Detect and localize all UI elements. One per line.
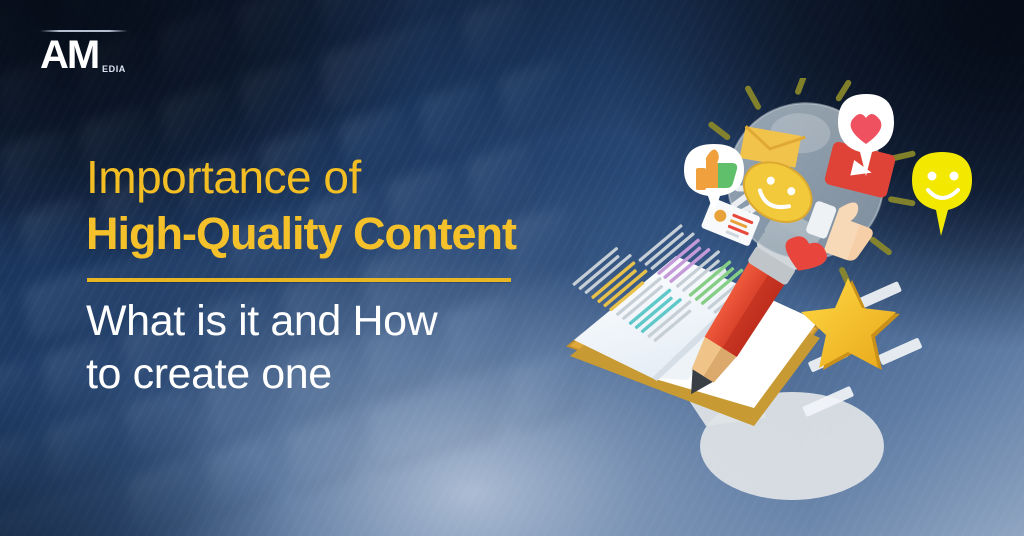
- logo[interactable]: AM EDIA: [40, 30, 136, 75]
- headline-divider: [87, 278, 511, 282]
- logo-secondary-text: EDIA: [102, 64, 126, 74]
- logo-primary-text: AM: [40, 33, 98, 77]
- headline-block: Importance of High-Quality Content What …: [86, 150, 556, 401]
- banner: AM EDIA Importance of High-Quality Conte…: [0, 0, 1024, 536]
- illustration-lightbulb-pencil-book: [556, 78, 1024, 536]
- speech-bubble-smiley: [912, 152, 972, 236]
- logo-mark: AM EDIA: [40, 35, 136, 75]
- subtitle-line-2: to create one: [86, 348, 556, 401]
- subtitle-line-1: What is it and How: [86, 295, 556, 348]
- headline-line-1: Importance of: [86, 150, 556, 204]
- logo-top-rule: [40, 30, 128, 32]
- headline-line-2: High-Quality Content: [86, 204, 556, 264]
